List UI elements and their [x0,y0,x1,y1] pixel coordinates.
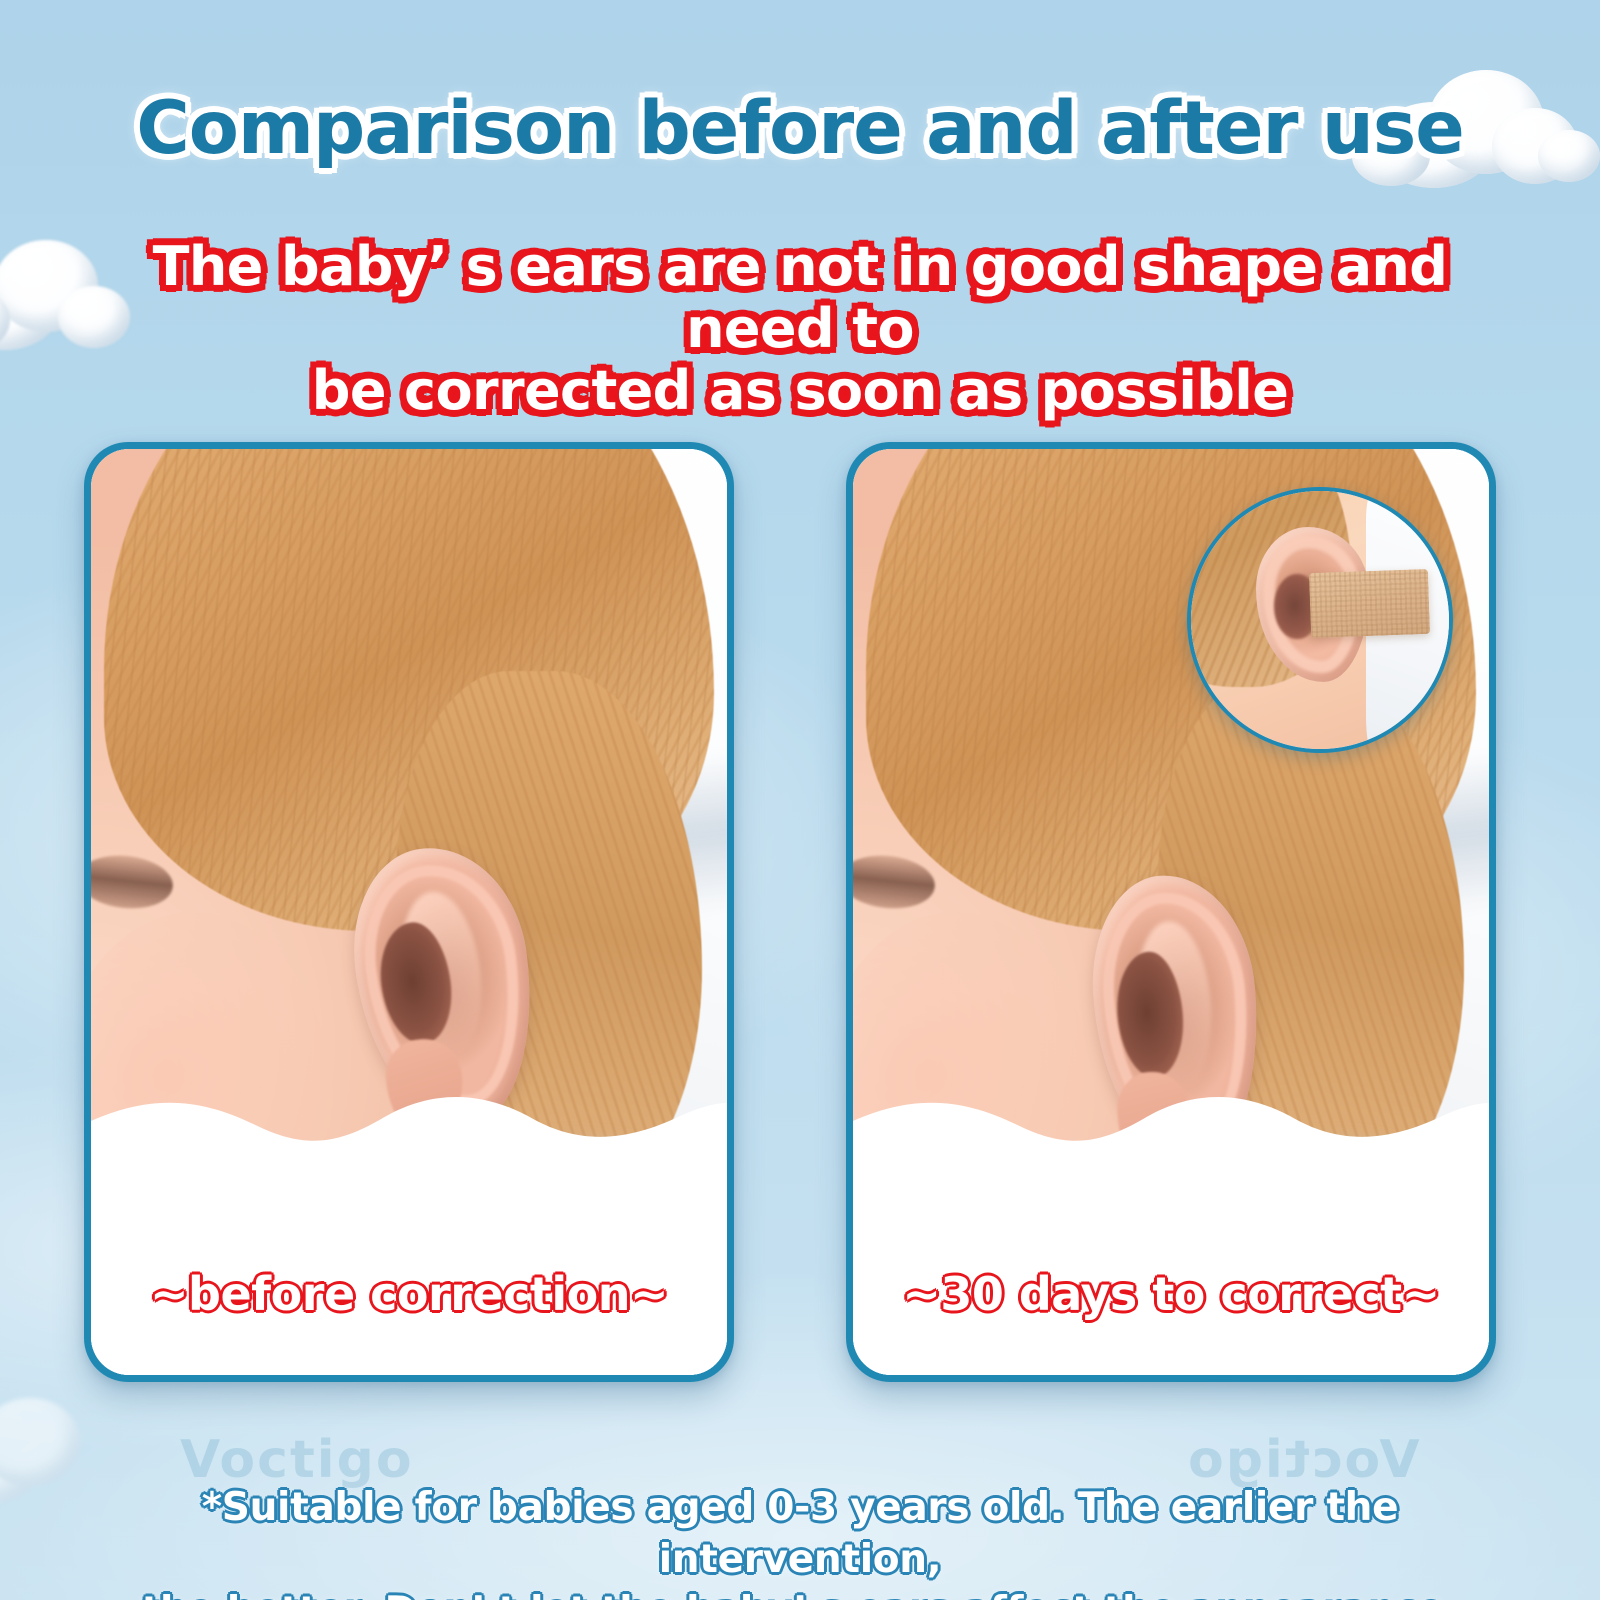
footnote-line-2: the better. Don’ t let the baby’ s ears … [90,1586,1510,1600]
page-subtitle: The baby’ s ears are not in good shape a… [100,236,1500,422]
corrector-tape [1309,569,1430,638]
comparison-card-after[interactable]: ~30 days to correct~ [846,442,1496,1382]
footnote-line-1: *Suitable for babies aged 0-3 years old.… [90,1482,1510,1586]
subtitle-line-2: be corrected as soon as possible [100,360,1500,422]
page-title: Comparison before and after use [0,86,1600,171]
caption-after: ~30 days to correct~ [853,1267,1489,1321]
caption-panel-before: ~before correction~ [91,1143,727,1375]
footnote: *Suitable for babies aged 0-3 years old.… [90,1482,1510,1600]
subtitle-line-1: The baby’ s ears are not in good shape a… [100,236,1500,360]
comparison-card-before[interactable]: ~before correction~ [84,442,734,1382]
poster-canvas: Comparison before and after use The baby… [0,0,1600,1600]
watermark-right: Voctigo [1186,1430,1420,1490]
caption-before: ~before correction~ [91,1267,727,1321]
caption-panel-after: ~30 days to correct~ [853,1143,1489,1375]
watermark-left: Voctigo [180,1430,414,1490]
wave-divider-icon [91,1091,727,1149]
wave-divider-icon [853,1091,1489,1149]
magnifier-inset-icon[interactable] [1187,487,1453,753]
